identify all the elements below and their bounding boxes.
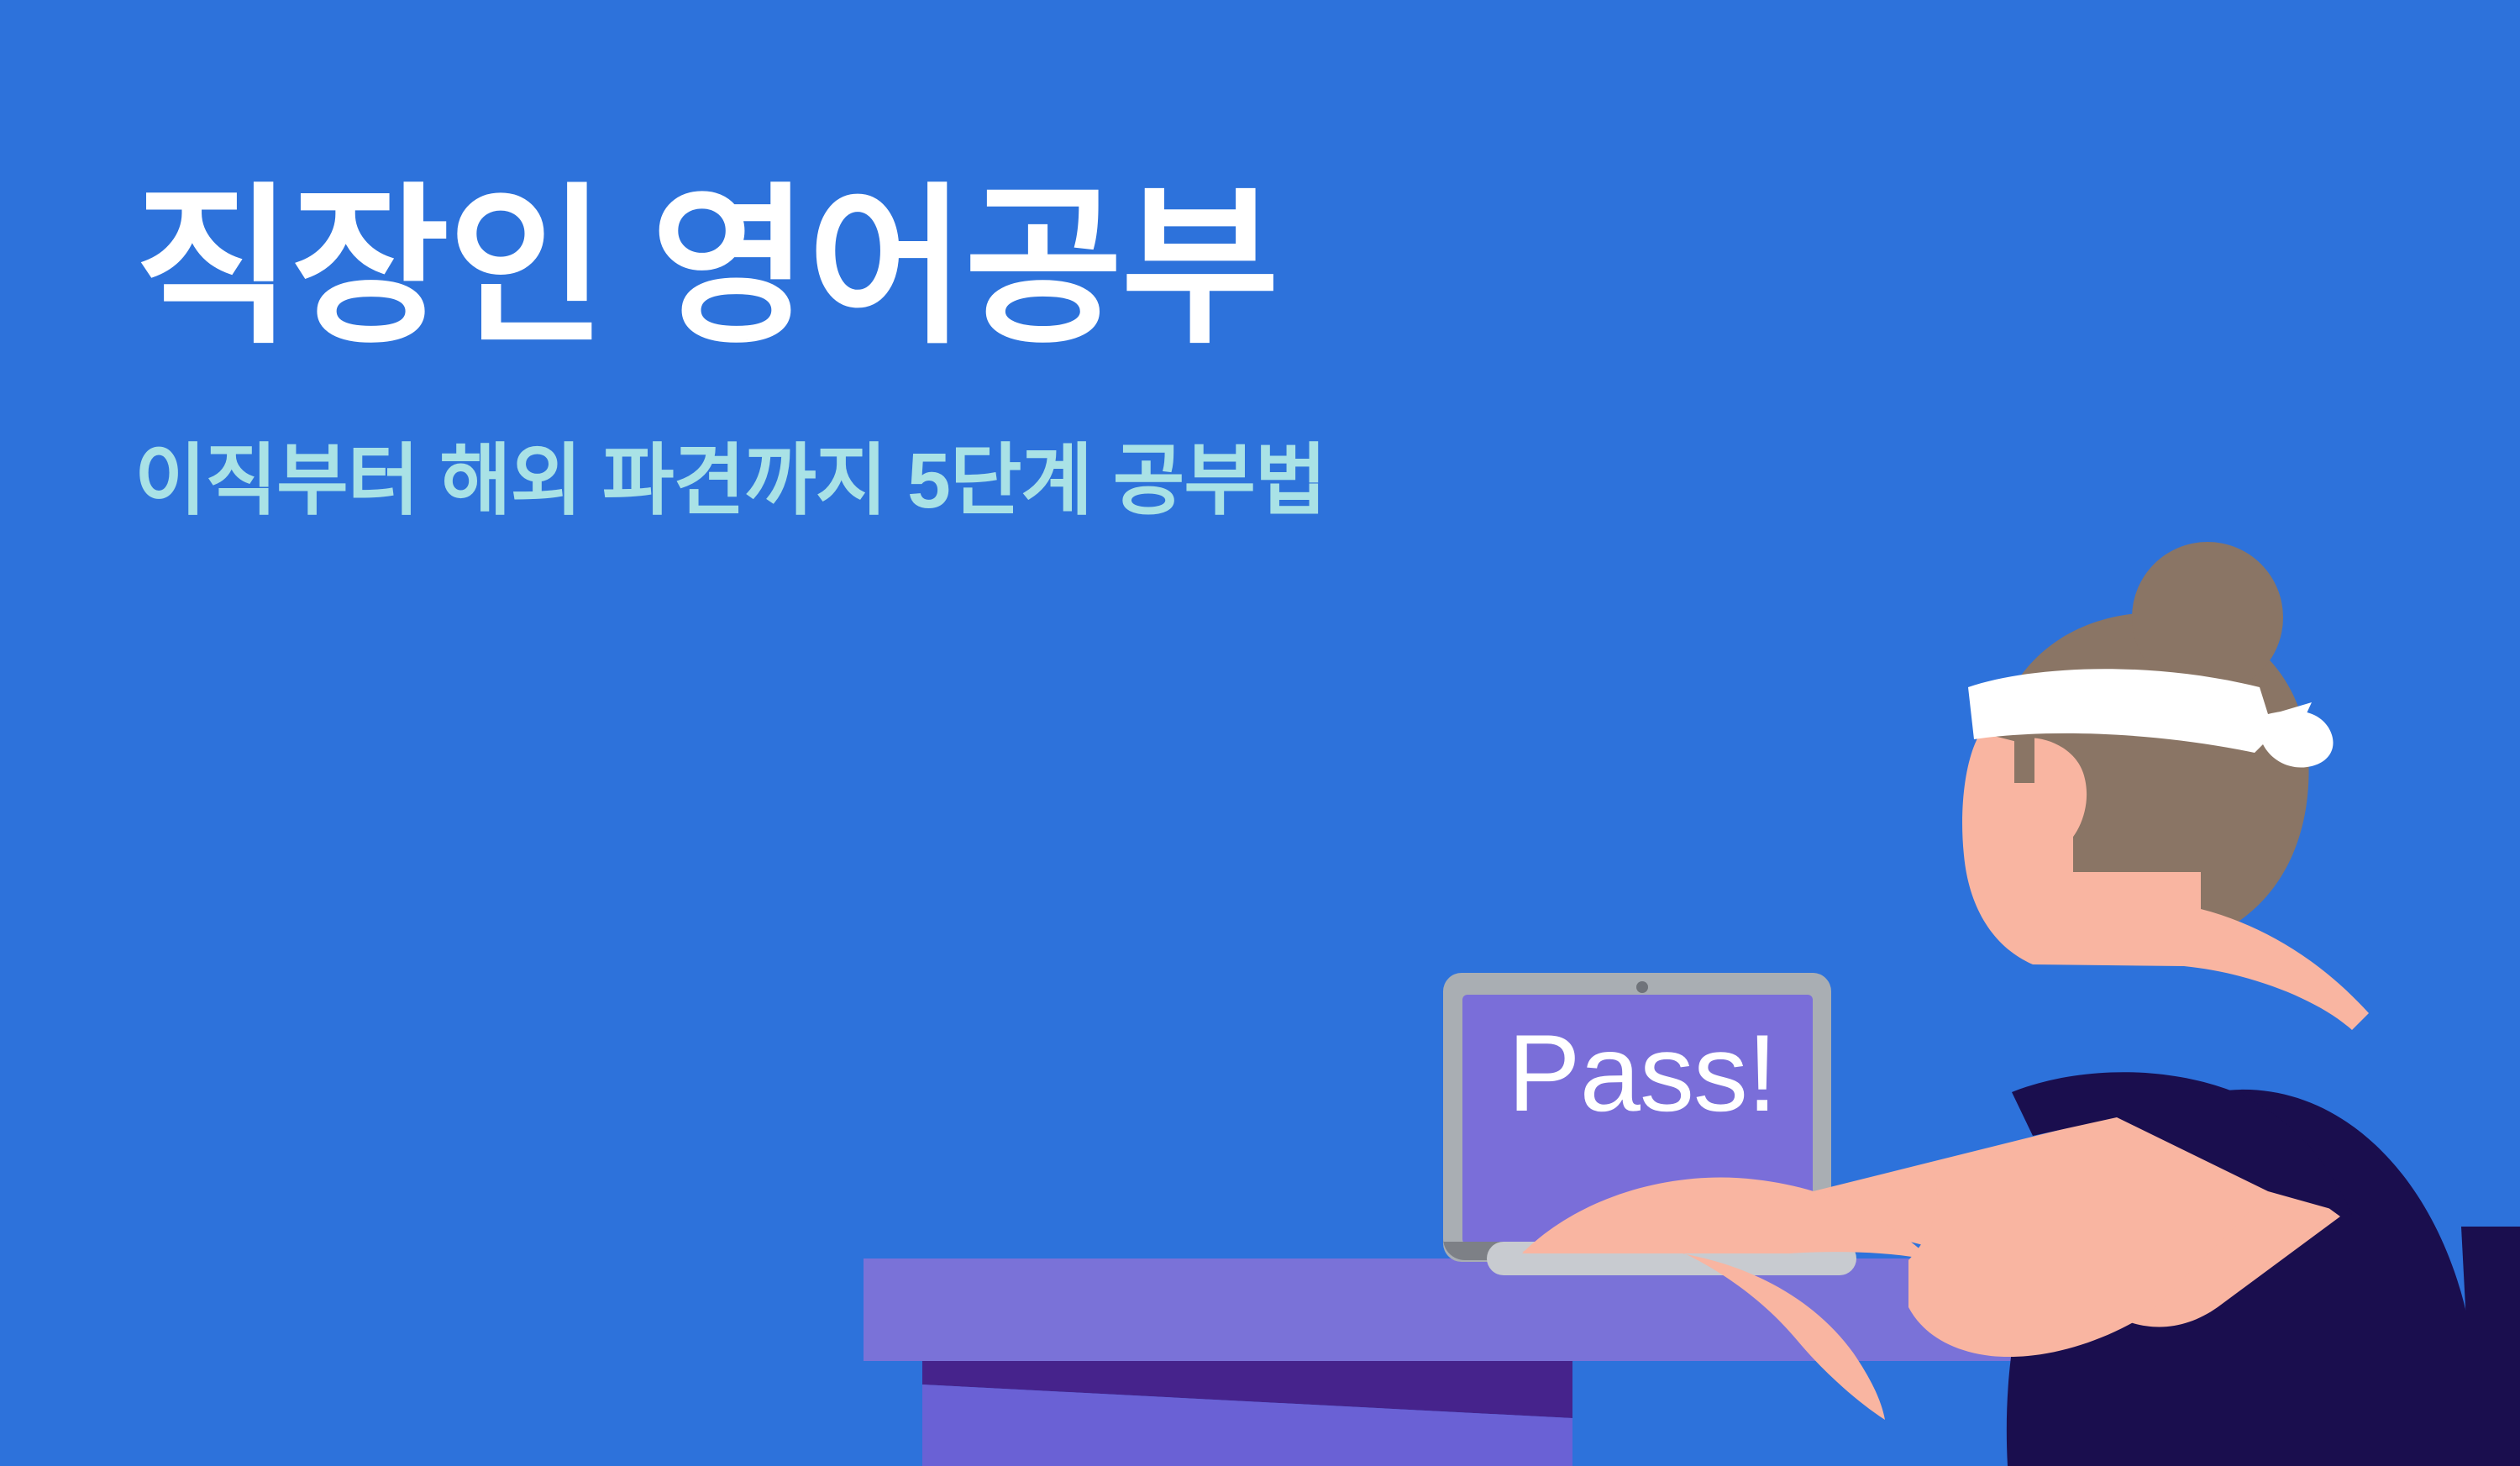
desk-top-surface [864, 1258, 2041, 1361]
laptop-camera-icon [1636, 981, 1648, 993]
page-subtitle: 이직부터 해외 파견까지 5단계 공부법 [134, 438, 1814, 523]
text-block: 직장인 영어공부 이직부터 해외 파견까지 5단계 공부법 [134, 176, 1814, 524]
hair-sideburn [2014, 733, 2034, 783]
desk-group [864, 1258, 2041, 1466]
banner-canvas: 직장인 영어공부 이직부터 해외 파견까지 5단계 공부법 Pass! [0, 0, 2520, 1466]
hair-bun [2132, 542, 2283, 693]
page-title: 직장인 영어공부 [134, 176, 1814, 359]
laptop-screen-label: Pass! [1457, 1018, 1827, 1127]
